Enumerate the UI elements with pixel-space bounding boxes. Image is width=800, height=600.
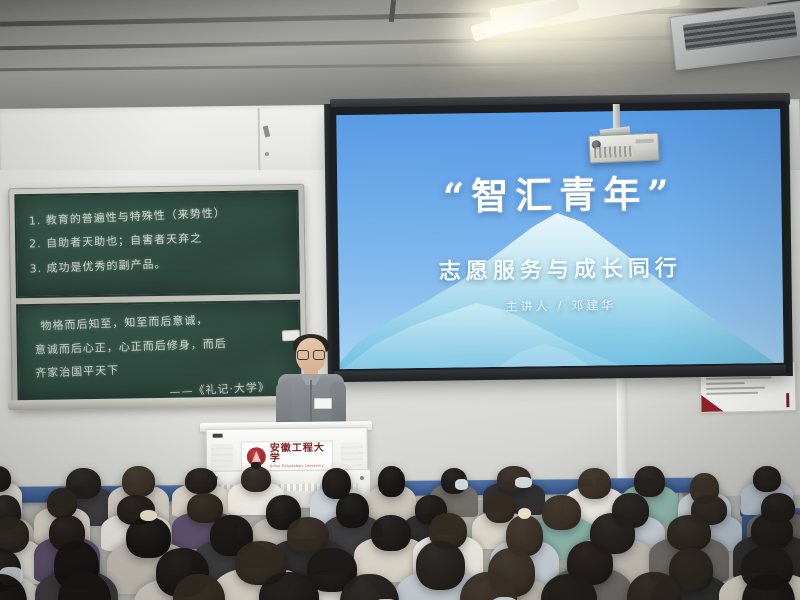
audience-member-head — [378, 466, 405, 497]
podium-vent — [211, 444, 233, 468]
audience-member-head — [753, 466, 781, 492]
hair-tie-icon — [140, 510, 156, 521]
audience-member-head — [634, 466, 665, 497]
chalk-line: 意诚而后心正，心正而后修身，而后 — [35, 335, 227, 357]
poster-text-line — [706, 382, 745, 385]
audience-member-head — [287, 517, 329, 553]
projector-ports — [594, 146, 634, 159]
audience-member-head — [485, 493, 515, 523]
podium-button-icon[interactable] — [360, 476, 364, 480]
audience-member-head — [578, 468, 611, 499]
slide-subtitle: 志愿服务与成长同行 — [338, 249, 782, 287]
audience-member-head — [416, 541, 465, 590]
blackboard-top-panel: 1. 教育的普遍性与特殊性（来势性） 2. 自助者天助也；自害者天弃之 3. 成… — [14, 190, 300, 298]
poster-text-line — [706, 377, 772, 380]
hair-tie-icon — [251, 462, 262, 469]
projector-label — [636, 139, 654, 144]
audience-member-head — [47, 488, 77, 518]
audience-member-head — [0, 517, 29, 553]
university-name-cn: 安徽工程大学 — [270, 443, 327, 465]
chalk-line: 物格而后知至，知至而后意诚， — [40, 311, 208, 333]
blackboard-bottom-panel: 物格而后知至，知至而后意诚， 意诚而后心正，心正而后修身，而后 齐家治国平天下 … — [16, 300, 302, 402]
poster-triangle-accent — [701, 395, 723, 412]
university-name-en: Anhui Polytechnic University — [270, 464, 327, 468]
wall-fixture — [265, 152, 269, 156]
face-mask-icon — [455, 479, 469, 489]
poster-text-line — [706, 387, 765, 390]
podium-switch-icon[interactable] — [213, 434, 223, 438]
audience-member-head — [241, 466, 271, 492]
slide-title: “智汇青年” — [337, 162, 782, 222]
audience-member-head — [751, 513, 793, 549]
audience-member-head — [667, 515, 711, 551]
chalk-line: 齐家治国平天下 — [35, 362, 120, 381]
podium-vent — [341, 442, 363, 466]
name-badge — [314, 398, 332, 409]
audience-member-head — [122, 466, 155, 497]
chalk-line: 1. 教育的普遍性与特殊性（来势性） — [28, 204, 225, 228]
glasses-icon — [297, 350, 325, 358]
face-mask-icon — [515, 477, 533, 487]
chalk-line: 2. 自助者天助也；自害者天弃之 — [29, 230, 202, 252]
blackboard: 1. 教育的普遍性与特殊性（来势性） 2. 自助者天助也；自害者天弃之 3. 成… — [8, 184, 307, 411]
audience-member-head — [126, 517, 171, 558]
slide-canvas: “智汇青年” 志愿服务与成长同行 主讲人 / 邓建华 — [336, 109, 784, 369]
projector-icon — [588, 132, 659, 163]
audience-member-head — [336, 493, 369, 528]
audience-member-head — [185, 468, 217, 494]
chalk-line: 3. 成功是优秀的副产品。 — [29, 255, 166, 276]
projection-screen: “智汇青年” 志愿服务与成长同行 主讲人 / 邓建华 — [330, 101, 790, 379]
audience-member-head — [542, 495, 581, 530]
poster-bar-accent — [786, 393, 789, 407]
audience-member-head — [371, 515, 411, 551]
lecture-hall-photo: 1. 教育的普遍性与特殊性（来势性） 2. 自助者天助也；自害者天弃之 3. 成… — [0, 0, 800, 600]
